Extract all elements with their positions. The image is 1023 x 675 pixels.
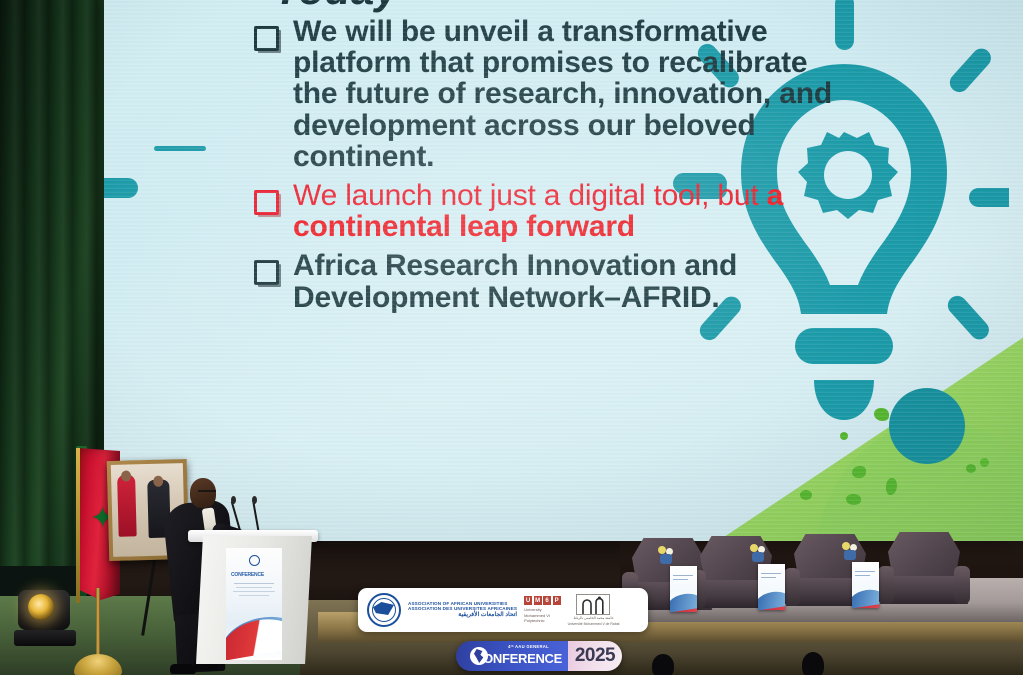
lectern-poster-line — [239, 595, 269, 596]
conference-badge: 4ᵗʰ AAU GENERAL CONFERENCE 2025 — [456, 641, 622, 671]
audience-head-silhouette — [652, 654, 674, 675]
audience-head-silhouette — [802, 652, 824, 675]
lectern-poster-line — [233, 591, 275, 592]
flower-arrangement — [840, 542, 862, 568]
um6p-letter-p: P — [553, 596, 561, 605]
panelist-name-card — [758, 564, 785, 610]
flower-foliage — [844, 550, 856, 560]
mohammed-v-university-icon — [576, 594, 610, 615]
lectern-poster-panel: CONFERENCE — [226, 548, 282, 660]
name-card-blue-swoosh — [758, 589, 785, 610]
flower — [658, 546, 666, 554]
bullet-launch: We launch not just a digital tool, but a… — [254, 180, 854, 242]
sponsor-logo-banner: ASSOCIATION OF AFRICAN UNIVERSITIES ASSO… — [358, 588, 648, 632]
name-card-line — [673, 579, 688, 580]
um6p-letter-u: U — [524, 596, 532, 605]
flag-pole — [96, 588, 100, 662]
checkbox-bullet-icon — [254, 26, 279, 51]
conference-stage-photo: Today We will be unveil a transformative… — [0, 0, 1023, 675]
bullet-afrid-text: Africa Research Innovation and Developme… — [293, 250, 854, 312]
um6p-letter-row: U M 6 P — [524, 596, 561, 605]
bullet-launch-text: We launch not just a digital tool, but a… — [293, 180, 854, 242]
checkbox-bullet-icon-red — [254, 190, 279, 215]
spotlight-base — [14, 630, 76, 646]
slide-title: Today — [274, 0, 399, 14]
speaker-shoe — [170, 664, 196, 674]
um6p-letter-6: 6 — [543, 596, 551, 605]
portrait-figure-left — [117, 474, 137, 536]
microphone-head-icon — [252, 496, 257, 504]
name-card-blue-swoosh — [852, 587, 879, 608]
teal-dash-accent — [154, 146, 206, 151]
flower — [750, 544, 758, 552]
chair-arm-left — [878, 566, 894, 604]
teal-pill-accent — [104, 178, 138, 198]
lectern-poster-logo — [249, 555, 260, 566]
moving-head-spotlight — [14, 584, 76, 650]
um6p-logo: U M 6 P University Mohammed VI Polytechn… — [524, 596, 561, 623]
panelist-name-card — [670, 566, 697, 612]
name-card-blue-swoosh — [670, 591, 697, 612]
conference-kicker: 4ᵗʰ AAU GENERAL — [508, 644, 549, 649]
speaker-glasses-icon — [198, 490, 216, 497]
flower-arrangement — [656, 546, 678, 572]
name-card-line — [673, 575, 693, 576]
flag-gold-trim — [76, 448, 80, 603]
mohammed-v-subtitle-french: Université Mohammed V de Rabat — [568, 622, 620, 626]
flag-base — [74, 654, 122, 675]
aau-wordmark: ASSOCIATION OF AFRICAN UNIVERSITIES ASSO… — [408, 601, 517, 619]
um6p-subtitle: University Mohammed VI Polytechnic — [524, 607, 561, 623]
chair-arm-right — [954, 566, 970, 604]
conference-badge-left: 4ᵗʰ AAU GENERAL CONFERENCE — [456, 641, 568, 671]
lectern-poster-line — [234, 583, 274, 584]
name-card-line — [761, 573, 781, 574]
spotlight-lens — [28, 594, 54, 620]
bullet-unveil-text: We will be unveil a transformative platf… — [293, 16, 854, 172]
bullet-launch-plain: We launch not just a digital tool, but — [293, 179, 767, 212]
green-dot-splatter — [852, 466, 866, 478]
bullet-unveil: We will be unveil a transformative platf… — [254, 16, 854, 172]
flower-arrangement — [748, 544, 770, 570]
conference-year: 2025 — [575, 645, 615, 667]
chair-arm-left — [784, 568, 800, 606]
bullet-afrid: Africa Research Innovation and Developme… — [254, 250, 854, 312]
mohammed-v-subtitle-arabic: جامعة محمد الخامس بالرباط — [573, 616, 613, 620]
green-dot-splatter — [800, 490, 812, 500]
um6p-subtitle-line3: Polytechnic — [524, 618, 561, 623]
aau-emblem-icon — [367, 593, 401, 627]
flower-foliage — [752, 552, 764, 562]
slide-bullet-list: We will be unveil a transformative platf… — [254, 16, 854, 319]
lectern-poster-wordmark: CONFERENCE — [231, 572, 282, 578]
projection-screen: Today We will be unveil a transformative… — [104, 0, 1023, 541]
name-card-line — [855, 575, 870, 576]
name-card-line — [855, 571, 875, 572]
lectern-poster-line — [236, 587, 272, 588]
panelist-name-card — [852, 562, 879, 608]
flower — [842, 542, 850, 550]
green-dot-splatter — [966, 464, 976, 473]
name-card-line — [761, 577, 776, 578]
green-dot-splatter — [846, 494, 861, 505]
flower-foliage — [660, 554, 672, 564]
um6p-letter-m: M — [534, 596, 542, 605]
mohammed-v-university-logo: جامعة محمد الخامس بالرباط Université Moh… — [568, 594, 620, 626]
checkbox-bullet-icon — [254, 260, 279, 285]
panel-armchair — [878, 532, 970, 610]
conference-badge-right: 2025 — [568, 641, 622, 671]
aau-name-arabic: اتحاد الجامعات الأفريقية — [408, 612, 517, 619]
africa-globe-icon — [470, 647, 488, 665]
